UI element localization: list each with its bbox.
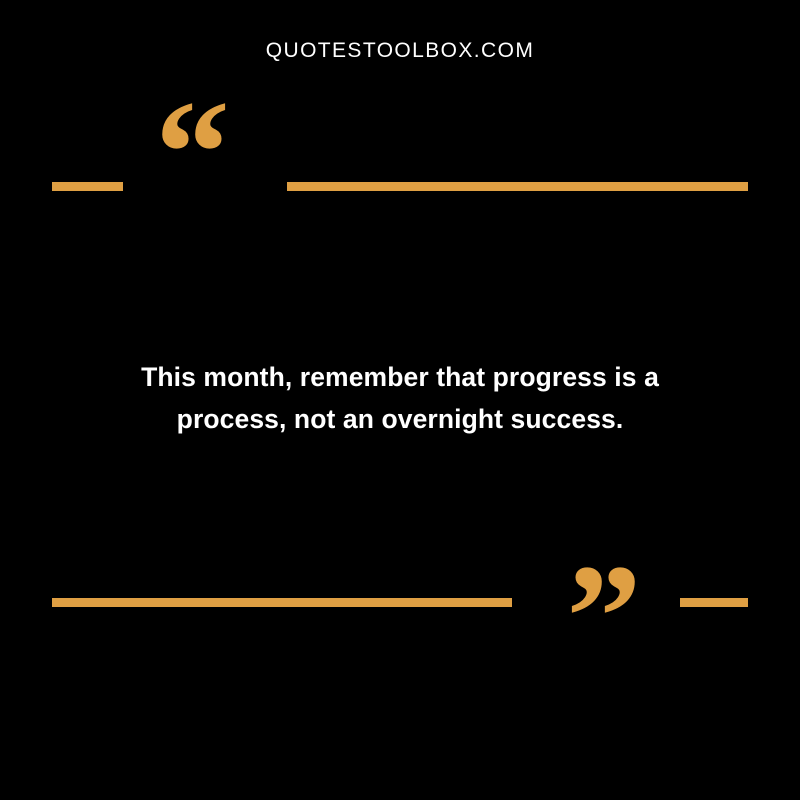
top-long-rule bbox=[287, 182, 748, 191]
bottom-short-rule bbox=[680, 598, 748, 607]
brand-name: QUOTESTOOLBOX.COM bbox=[266, 40, 534, 61]
quote-block: This month, remember that progress is a … bbox=[90, 356, 710, 440]
quote-line-1: This month, remember that progress is a bbox=[90, 356, 710, 398]
quote-line-2: process, not an overnight success. bbox=[90, 398, 710, 440]
opening-quotation-mark-icon: “ bbox=[155, 78, 230, 228]
bottom-long-rule bbox=[52, 598, 512, 607]
site-header: QUOTESTOOLBOX.COM bbox=[0, 40, 800, 62]
top-short-rule bbox=[52, 182, 123, 191]
quote-card: QUOTESTOOLBOX.COM “ This month, remember… bbox=[0, 0, 800, 800]
closing-quotation-mark-icon: “ bbox=[567, 488, 642, 638]
